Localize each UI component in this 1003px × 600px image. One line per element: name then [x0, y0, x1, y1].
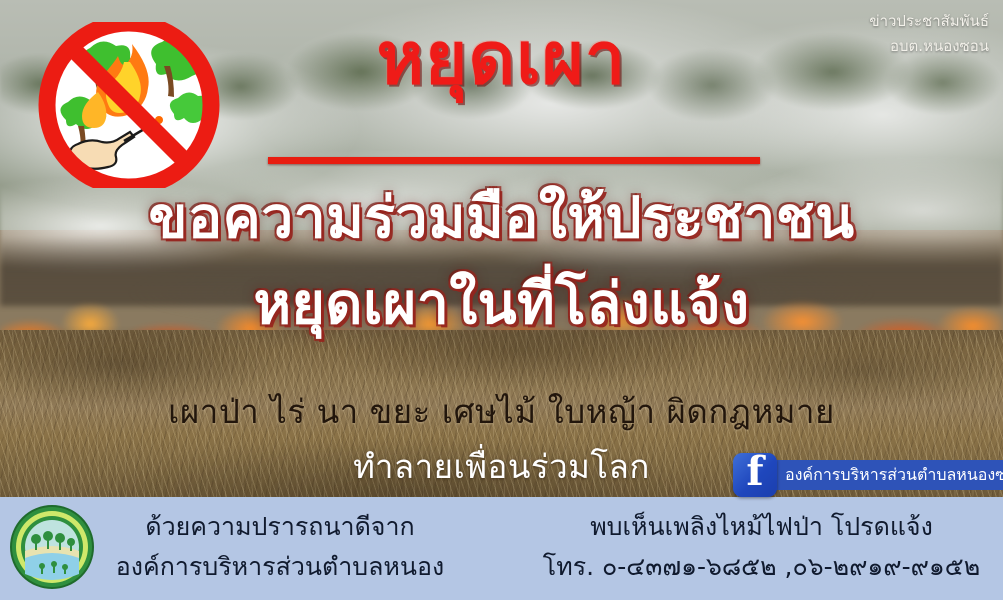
illegal-burning-notice: เผาป่า ไร่ นา ขยะ เศษไม้ ใบหญ้า ผิดกฎหมา… [0, 385, 1003, 438]
footer-left-line2: องค์การบริหารส่วนตำบลหนองซอน [95, 547, 465, 600]
poster-root: ข่าวประชาสัมพันธ์ อบต.หนองซอน [0, 0, 1003, 600]
facebook-icon[interactable] [733, 453, 777, 497]
footer-right-block: พบเห็นเพลิงไหม้ไฟป่า โปรดแจ้ง โทร. ๐-๔๓๗… [520, 507, 1003, 587]
organization-seal-logo [10, 505, 94, 589]
facebook-badge[interactable]: องค์การบริหารส่วนตำบลหนองซอน [733, 453, 1003, 497]
footer-left-line1: ด้วยความปรารถนาดีจาก [95, 507, 465, 547]
red-divider [268, 157, 760, 164]
footer-left-block: ด้วยความปรารถนาดีจาก องค์การบริหารส่วนตำ… [95, 507, 465, 600]
facebook-page-name[interactable]: องค์การบริหารส่วนตำบลหนองซอน [769, 460, 1003, 490]
subhead-line-2: หยุดเผาในที่โล่งแจ้ง [0, 276, 1003, 333]
page-title: หยุดเผา [0, 22, 1003, 94]
subhead-line-1: ขอความร่วมมือให้ประชาชน [0, 190, 1003, 247]
footer-phone-numbers: โทร. ๐-๔๓๗๑-๖๘๕๒ ,๐๖-๒๙๑๙-๙๑๕๒ [520, 547, 1003, 587]
footer-bar: ด้วยความปรารถนาดีจาก องค์การบริหารส่วนตำ… [0, 497, 1003, 600]
footer-right-line1: พบเห็นเพลิงไหม้ไฟป่า โปรดแจ้ง [520, 507, 1003, 547]
